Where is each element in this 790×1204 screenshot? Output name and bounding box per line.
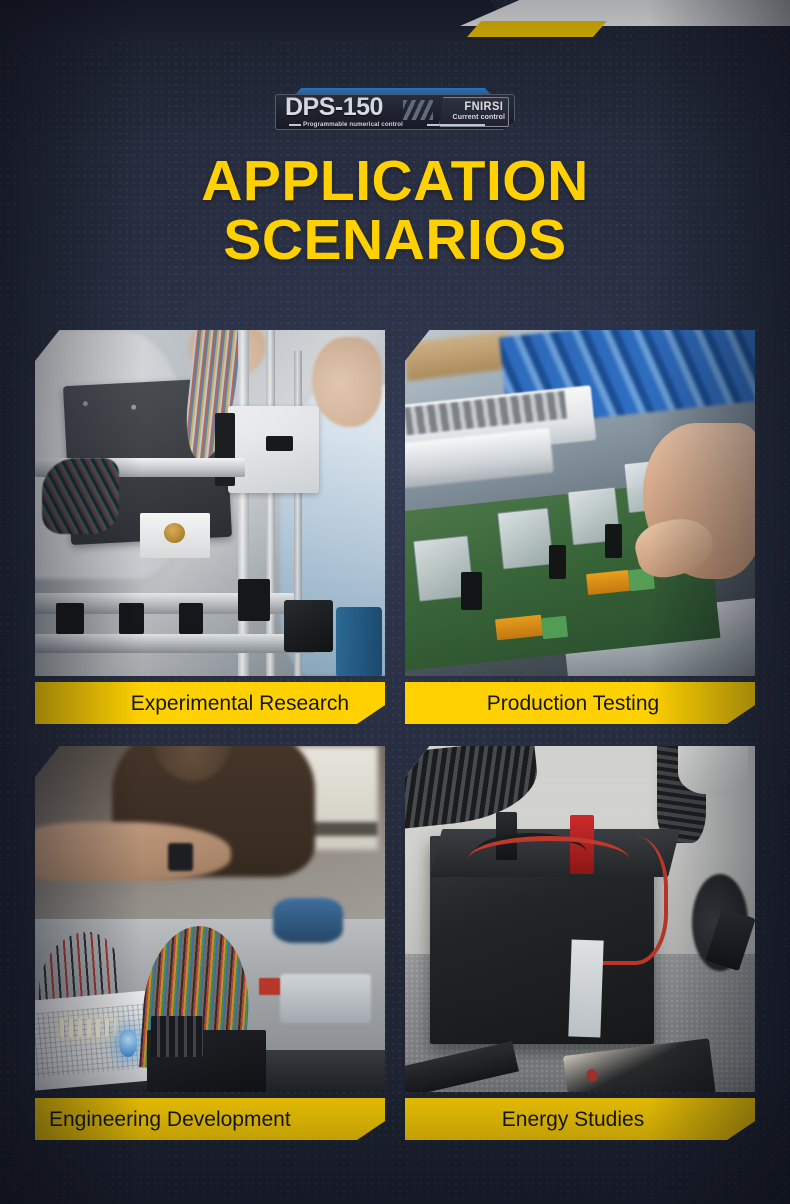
poster-root: DPS-150 Programmable numerical control F… bbox=[0, 0, 790, 1204]
badge-brand-name: FNIRSI bbox=[464, 99, 503, 113]
scenario-card-experimental-research: Experimental Research bbox=[35, 330, 385, 724]
scenario-photo bbox=[35, 330, 385, 676]
scenario-photo bbox=[405, 746, 755, 1092]
product-badge: DPS-150 Programmable numerical control F… bbox=[275, 88, 515, 134]
scenario-photo bbox=[35, 746, 385, 1092]
scenario-caption-banner: Engineering Development bbox=[35, 1098, 385, 1140]
scenario-caption-label: Energy Studies bbox=[502, 1109, 644, 1130]
scenario-caption-label: Engineering Development bbox=[49, 1109, 291, 1130]
scenario-caption-label: Experimental Research bbox=[131, 693, 349, 714]
badge-subtitle: Programmable numerical control bbox=[303, 121, 403, 128]
badge-model-name: DPS-150 bbox=[285, 95, 383, 120]
page-title-line-2: SCENARIOS bbox=[0, 211, 790, 270]
scenario-caption-banner: Experimental Research bbox=[35, 682, 385, 724]
badge-subtitle-rule-left bbox=[289, 124, 301, 126]
page-title: APPLICATION SCENARIOS bbox=[0, 152, 790, 269]
top-yellow-stripe-decoration bbox=[467, 21, 607, 37]
badge-brand-tagline: Current control bbox=[453, 114, 505, 121]
product-badge-container: DPS-150 Programmable numerical control F… bbox=[0, 88, 790, 134]
scenario-card-energy-studies: Energy Studies bbox=[405, 746, 755, 1140]
scenario-photo bbox=[405, 330, 755, 676]
photo-production-testing bbox=[405, 330, 755, 676]
scenario-caption-label: Production Testing bbox=[487, 693, 659, 714]
badge-slash-stripes-icon bbox=[403, 100, 433, 120]
scenario-card-engineering-development: Engineering Development bbox=[35, 746, 385, 1140]
scenario-card-production-testing: Production Testing bbox=[405, 330, 755, 724]
photo-energy-studies bbox=[405, 746, 755, 1092]
scenario-grid: Experimental Research bbox=[35, 330, 755, 1140]
scenario-caption-banner: Production Testing bbox=[405, 682, 755, 724]
scenario-caption-banner: Energy Studies bbox=[405, 1098, 755, 1140]
page-title-line-1: APPLICATION bbox=[201, 149, 589, 213]
photo-experimental-research bbox=[35, 330, 385, 676]
photo-engineering-development bbox=[35, 746, 385, 1092]
